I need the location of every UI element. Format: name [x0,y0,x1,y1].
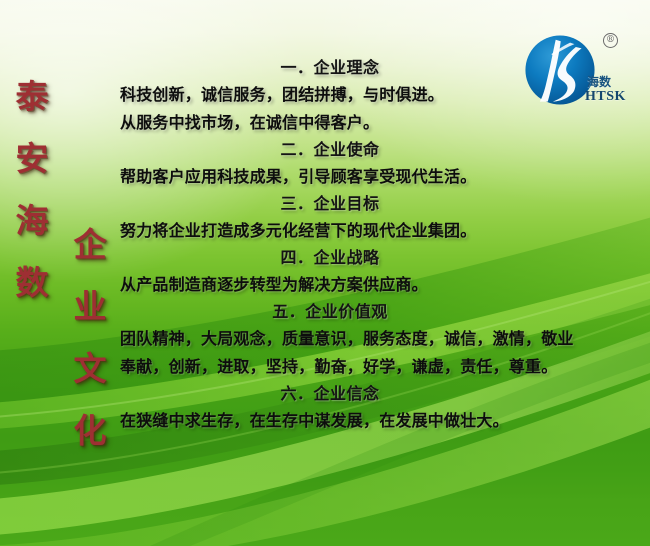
section-goal: 三．企业目标 努力将企业打造成多元化经营下的现代企业集团。 [120,191,540,245]
vertical-char: 化 [68,400,112,462]
vertical-char: 数 [10,252,54,314]
section-heading: 一．企业理念 [120,55,540,81]
section-philosophy: 一．企业理念 科技创新，诚信服务，团结拼搏，与时俱进。 从服务中找市场，在诚信中… [120,55,540,137]
vertical-char: 泰 [10,66,54,128]
vertical-char: 文 [68,338,112,400]
section-line: 帮助客户应用科技成果，引导顾客享受现代生活。 [120,163,540,191]
section-line: 从服务中找市场，在诚信中得客户。 [120,109,540,137]
section-line: 从产品制造商逐步转型为解决方案供应商。 [120,271,540,299]
section-heading: 二．企业使命 [120,137,540,163]
section-heading: 五．企业价值观 [120,299,540,325]
section-mission: 二．企业使命 帮助客户应用科技成果，引导顾客享受现代生活。 [120,137,540,191]
logo-latin-name: HTSK [585,89,626,105]
section-line: 团队精神，大局观念，质量意识，服务态度，诚信，激情，敬业 [120,325,540,353]
section-strategy: 四．企业战略 从产品制造商逐步转型为解决方案供应商。 [120,245,540,299]
section-line: 奉献，创新，进取，坚持，勤奋，好学，谦虚，责任，尊重。 [120,353,540,381]
section-heading: 三．企业目标 [120,191,540,217]
section-line: 努力将企业打造成多元化经营下的现代企业集团。 [120,217,540,245]
registered-trademark-icon: ® [603,33,618,48]
vertical-title-taian-haishu: 泰 安 海 数 [10,66,54,314]
vertical-char: 业 [68,276,112,338]
section-line: 在狭缝中求生存，在生存中谋发展，在发展中做壮大。 [120,407,540,435]
section-heading: 六．企业信念 [120,381,540,407]
company-logo: ® 海数 HTSK [524,31,644,113]
vertical-char: 海 [10,190,54,252]
section-line: 科技创新，诚信服务，团结拼搏，与时俱进。 [120,81,540,109]
vertical-char: 安 [10,128,54,190]
vertical-title-qiye-wenhua: 企 业 文 化 [68,214,112,462]
section-belief: 六．企业信念 在狭缝中求生存，在生存中谋发展，在发展中做壮大。 [120,381,540,435]
culture-text-block: 一．企业理念 科技创新，诚信服务，团结拼搏，与时俱进。 从服务中找市场，在诚信中… [120,55,540,435]
vertical-char: 企 [68,214,112,276]
logo-chinese-name: 海数 [587,73,611,90]
corporate-culture-poster: ® 海数 HTSK 泰 安 海 数 企 业 文 化 一．企业理念 科技创新，诚信… [0,0,650,546]
section-values: 五．企业价值观 团队精神，大局观念，质量意识，服务态度，诚信，激情，敬业 奉献，… [120,299,540,381]
section-heading: 四．企业战略 [120,245,540,271]
